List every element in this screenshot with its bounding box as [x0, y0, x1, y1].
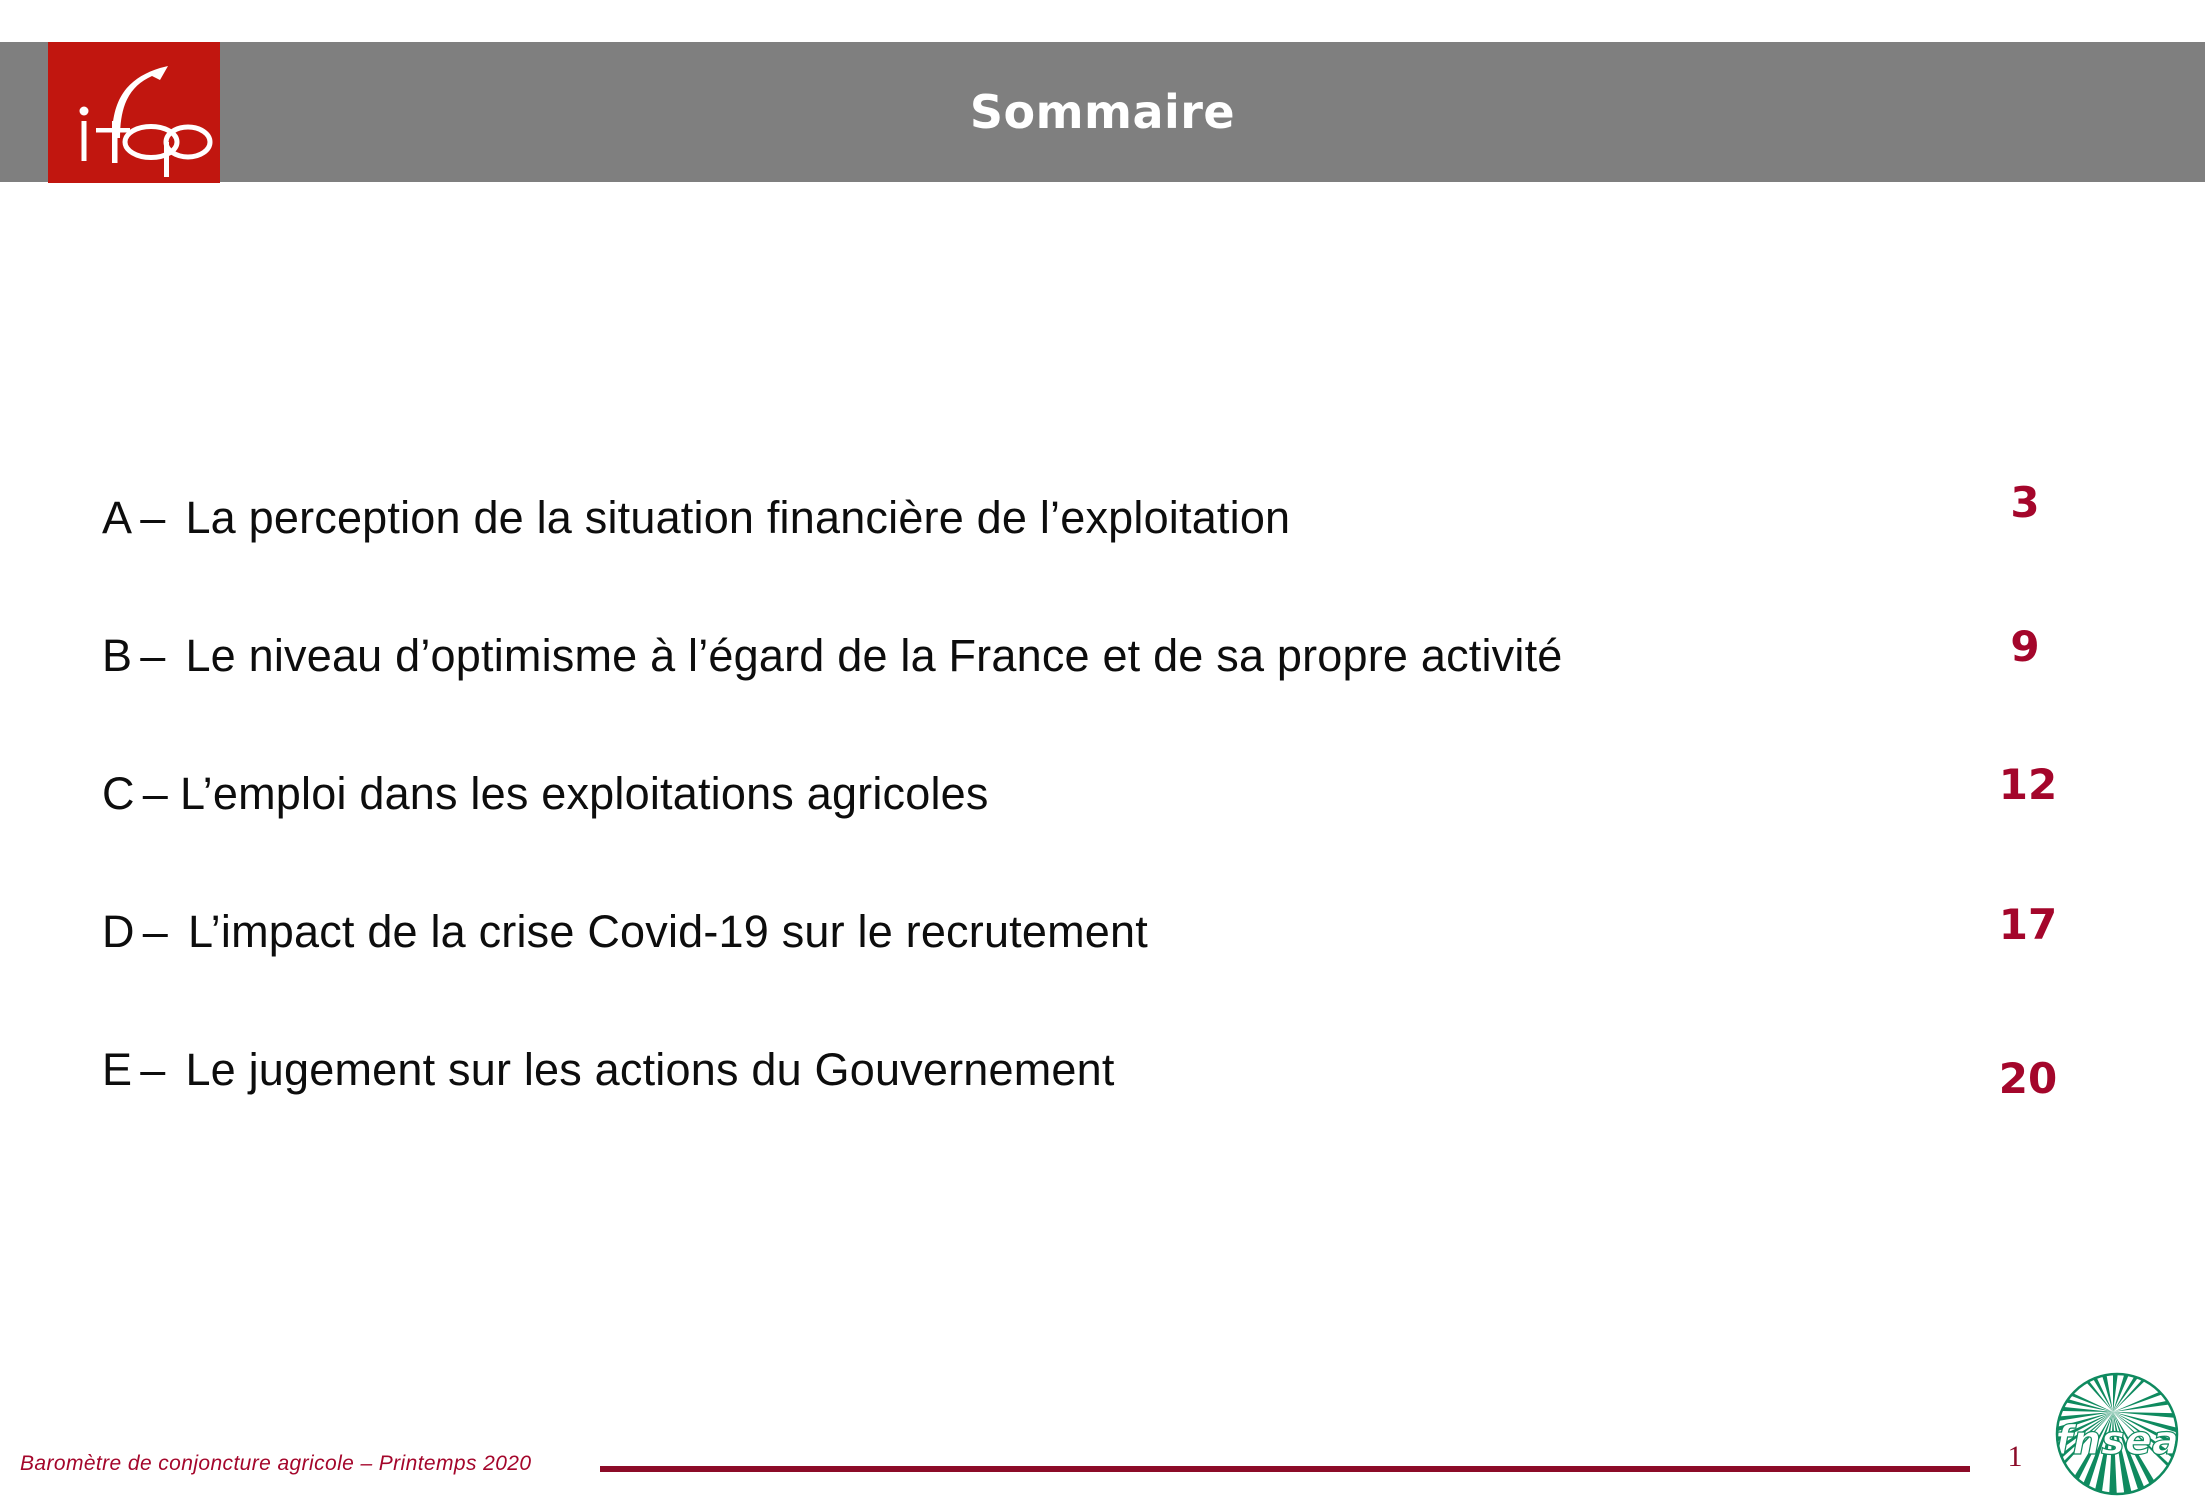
table-of-contents: A–La perception de la situation financiè… [0, 492, 2205, 1182]
toc-page-number: 12 [1968, 760, 2088, 809]
toc-item-e: E–Le jugement sur les actions du Gouvern… [102, 1044, 1115, 1096]
toc-title: Le jugement sur les actions du Gouvernem… [171, 1044, 1114, 1096]
toc-item-a: A–La perception de la situation financiè… [102, 492, 1290, 544]
toc-key: B [102, 630, 132, 682]
toc-separator: – [132, 1044, 171, 1096]
toc-row[interactable]: D–L’impact de la crise Covid-19 sur le r… [0, 906, 2205, 1044]
toc-title: L’emploi dans les exploitations agricole… [174, 768, 989, 820]
toc-key: D [102, 906, 135, 958]
toc-title: L’impact de la crise Covid-19 sur le rec… [174, 906, 1148, 958]
fnsea-logo: fnsea [2055, 1372, 2179, 1496]
toc-row[interactable]: E–Le jugement sur les actions du Gouvern… [0, 1044, 2205, 1182]
toc-page-number: 17 [1968, 900, 2088, 949]
toc-item-c: C–L’emploi dans les exploitations agrico… [102, 768, 989, 820]
toc-separator: – [132, 630, 171, 682]
toc-item-d: D–L’impact de la crise Covid-19 sur le r… [102, 906, 1148, 958]
toc-separator: – [135, 906, 174, 958]
toc-title: La perception de la situation financière… [171, 492, 1290, 544]
page-title: Sommaire [0, 42, 2205, 182]
toc-separator: – [135, 768, 174, 820]
toc-title: Le niveau d’optimisme à l’égard de la Fr… [171, 630, 1562, 682]
footer-source-label: Baromètre de conjoncture agricole – Prin… [20, 1452, 531, 1476]
toc-key: C [102, 768, 135, 820]
toc-row[interactable]: A–La perception de la situation financiè… [0, 492, 2205, 630]
toc-key: E [102, 1044, 132, 1096]
footer-divider [600, 1466, 1970, 1472]
toc-row[interactable]: C–L’emploi dans les exploitations agrico… [0, 768, 2205, 906]
toc-item-b: B–Le niveau d’optimisme à l’égard de la … [102, 630, 1563, 682]
toc-page-number: 9 [1965, 622, 2085, 671]
toc-row[interactable]: B–Le niveau d’optimisme à l’égard de la … [0, 630, 2205, 768]
toc-page-number: 3 [1965, 478, 2085, 527]
fnsea-logo-mark: fnsea [2055, 1372, 2179, 1496]
toc-separator: – [132, 492, 171, 544]
svg-text:fnsea: fnsea [2055, 1418, 2179, 1464]
toc-key: A [102, 492, 132, 544]
toc-page-number: 20 [1968, 1054, 2088, 1103]
slide-number: 1 [1985, 1440, 2045, 1474]
